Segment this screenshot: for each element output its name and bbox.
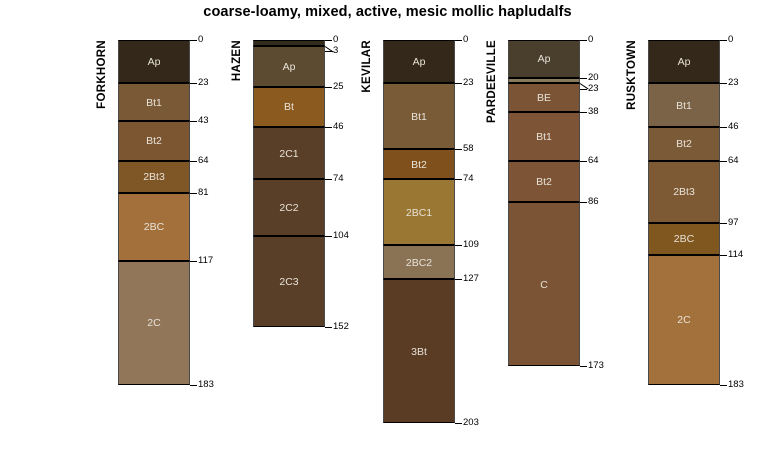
horizon-name-label: 3Bt: [384, 346, 454, 358]
depth-value-label: 25: [333, 82, 344, 92]
horizon-block[interactable]: 2BC2: [383, 245, 455, 279]
horizon-block[interactable]: 3Bt: [383, 279, 455, 422]
depth-value-label: 74: [463, 174, 474, 184]
horizon-name-label: Ap: [509, 53, 579, 65]
depth-tick-mark: [720, 223, 727, 224]
horizon-name-label: 2BC: [649, 233, 719, 245]
depth-value-label: 46: [728, 122, 739, 132]
depth-tick-mark: [190, 161, 197, 162]
depth-value-label: 97: [728, 218, 739, 228]
depth-value-label: 38: [588, 107, 599, 117]
horizon-block[interactable]: 2C: [118, 261, 190, 385]
horizon-block[interactable]: 2C2: [253, 179, 325, 236]
depth-value-label: 0: [198, 35, 203, 45]
profile-name-label: FORKHORN: [96, 40, 108, 109]
horizon-block[interactable]: Bt2: [508, 161, 580, 202]
horizon-block[interactable]: C: [508, 202, 580, 366]
horizon-name-label: 2C3: [254, 276, 324, 288]
depth-tick-mark: [720, 127, 727, 128]
horizon-block[interactable]: Bt1: [508, 112, 580, 161]
profile-name-label: KEVILAR: [361, 40, 373, 93]
horizon-name-label: Bt2: [384, 159, 454, 171]
profile-name-label: HAZEN: [231, 40, 243, 81]
horizon-name-label: Bt2: [649, 138, 719, 150]
depth-tick-mark: [580, 89, 587, 90]
depth-value-label: 58: [463, 144, 474, 154]
horizon-name-label: Ap: [119, 56, 189, 68]
depth-tick-mark: [580, 161, 587, 162]
horizon-name-label: 2C1: [254, 148, 324, 160]
horizon-block[interactable]: 2Bt3: [118, 161, 190, 193]
depth-value-label: 127: [463, 274, 479, 284]
horizon-name-label: Bt1: [119, 97, 189, 109]
horizon-block[interactable]: 2C1: [253, 127, 325, 180]
depth-tick-mark: [190, 121, 197, 122]
depth-value-label: 0: [588, 35, 593, 45]
horizon-name-label: BE: [509, 92, 579, 104]
horizon-name-label: Ap: [254, 61, 324, 73]
horizon-name-label: Bt1: [509, 131, 579, 143]
depth-tick-mark: [580, 78, 587, 79]
depth-tick-mark: [720, 255, 727, 256]
depth-tick-mark: [580, 202, 587, 203]
depth-tick-mark: [325, 327, 332, 328]
depth-tick-mark: [580, 366, 587, 367]
horizon-block[interactable]: Bt1: [648, 83, 720, 126]
horizon-block[interactable]: Ap: [383, 40, 455, 83]
depth-value-label: 109: [463, 240, 479, 250]
horizon-block[interactable]: Ap: [648, 40, 720, 83]
depth-tick-mark: [455, 423, 462, 424]
horizon-name-label: 2C2: [254, 202, 324, 214]
profile-name-label: RUSKTOWN: [626, 40, 638, 110]
horizon-block[interactable]: Bt2: [383, 149, 455, 179]
horizon-name-label: 2BC1: [384, 207, 454, 219]
depth-value-label: 173: [588, 361, 604, 371]
depth-value-label: 3: [333, 46, 338, 56]
depth-tick-mark: [455, 40, 462, 41]
horizon-name-label: C: [509, 279, 579, 291]
page-title: coarse-loamy, mixed, active, mesic molli…: [0, 4, 775, 20]
depth-value-label: 23: [588, 84, 599, 94]
horizon-name-label: Bt1: [649, 100, 719, 112]
horizon-name-label: 2Bt3: [649, 186, 719, 198]
depth-value-label: 0: [333, 35, 338, 45]
depth-value-label: 64: [588, 156, 599, 166]
depth-tick-mark: [325, 87, 332, 88]
depth-value-label: 64: [198, 156, 209, 166]
horizon-block[interactable]: 2C: [648, 255, 720, 385]
depth-tick-mark: [190, 40, 197, 41]
horizon-name-label: Bt2: [119, 135, 189, 147]
depth-value-label: 86: [588, 197, 599, 207]
horizon-block[interactable]: 2Bt3: [648, 161, 720, 223]
horizon-block[interactable]: Ap: [118, 40, 190, 83]
depth-value-label: 74: [333, 174, 344, 184]
depth-tick-mark: [455, 179, 462, 180]
depth-tick-mark: [580, 40, 587, 41]
horizon-name-label: 2C: [649, 314, 719, 326]
horizon-name-label: 2C: [119, 317, 189, 329]
depth-value-label: 183: [728, 380, 744, 390]
depth-tick-mark: [325, 127, 332, 128]
horizon-block[interactable]: 2BC1: [383, 179, 455, 245]
horizon-name-label: 2Bt3: [119, 171, 189, 183]
horizon-block[interactable]: Bt2: [118, 121, 190, 161]
depth-value-label: 117: [198, 256, 213, 266]
horizon-block[interactable]: Bt1: [383, 83, 455, 149]
depth-tick-mark: [455, 279, 462, 280]
depth-tick-mark: [325, 40, 332, 41]
depth-tick-mark: [455, 245, 462, 246]
depth-tick-mark: [190, 83, 197, 84]
depth-value-label: 20: [588, 73, 599, 83]
depth-tick-mark: [190, 261, 197, 262]
depth-tick-mark: [580, 112, 587, 113]
horizon-block[interactable]: 2BC: [648, 223, 720, 255]
depth-value-label: 0: [728, 35, 733, 45]
depth-value-label: 183: [198, 380, 214, 390]
depth-tick-mark: [325, 236, 332, 237]
depth-value-label: 43: [198, 116, 209, 126]
depth-value-label: 81: [198, 188, 209, 198]
depth-tick-mark: [190, 193, 197, 194]
horizon-name-label: Ap: [649, 56, 719, 68]
depth-value-label: 203: [463, 418, 479, 428]
depth-value-label: 104: [333, 231, 349, 241]
depth-tick-mark: [190, 385, 197, 386]
horizon-block[interactable]: Bt2: [648, 127, 720, 161]
depth-tick-mark: [720, 385, 727, 386]
horizon-name-label: Bt: [254, 101, 324, 113]
horizon-block[interactable]: 2C3: [253, 236, 325, 326]
profile-name-label: PARDEEVILLE: [486, 40, 498, 123]
horizon-name-label: 2BC2: [384, 257, 454, 269]
horizon-block[interactable]: 2BC: [118, 193, 190, 261]
depth-value-label: 23: [728, 78, 739, 88]
depth-tick-mark: [720, 83, 727, 84]
depth-value-label: 0: [463, 35, 468, 45]
depth-value-label: 23: [198, 78, 209, 88]
depth-tick-mark: [325, 179, 332, 180]
horizon-block[interactable]: Bt: [253, 87, 325, 127]
horizon-block[interactable]: Ap: [508, 40, 580, 78]
horizon-name-label: Bt1: [384, 111, 454, 123]
depth-value-label: 152: [333, 322, 349, 332]
horizon-block[interactable]: Ap: [253, 46, 325, 87]
depth-tick-mark: [455, 149, 462, 150]
depth-value-label: 46: [333, 122, 344, 132]
horizon-name-label: Ap: [384, 56, 454, 68]
horizon-name-label: 2BC: [119, 221, 189, 233]
horizon-block[interactable]: BE: [508, 83, 580, 111]
depth-tick-mark: [455, 83, 462, 84]
depth-tick-mark: [720, 161, 727, 162]
horizon-name-label: Bt2: [509, 176, 579, 188]
depth-value-label: 114: [728, 250, 743, 260]
soil-profile-chart: coarse-loamy, mixed, active, mesic molli…: [0, 0, 775, 450]
depth-tick-mark: [720, 40, 727, 41]
depth-value-label: 64: [728, 156, 739, 166]
depth-value-label: 23: [463, 78, 474, 88]
horizon-block[interactable]: Bt1: [118, 83, 190, 121]
